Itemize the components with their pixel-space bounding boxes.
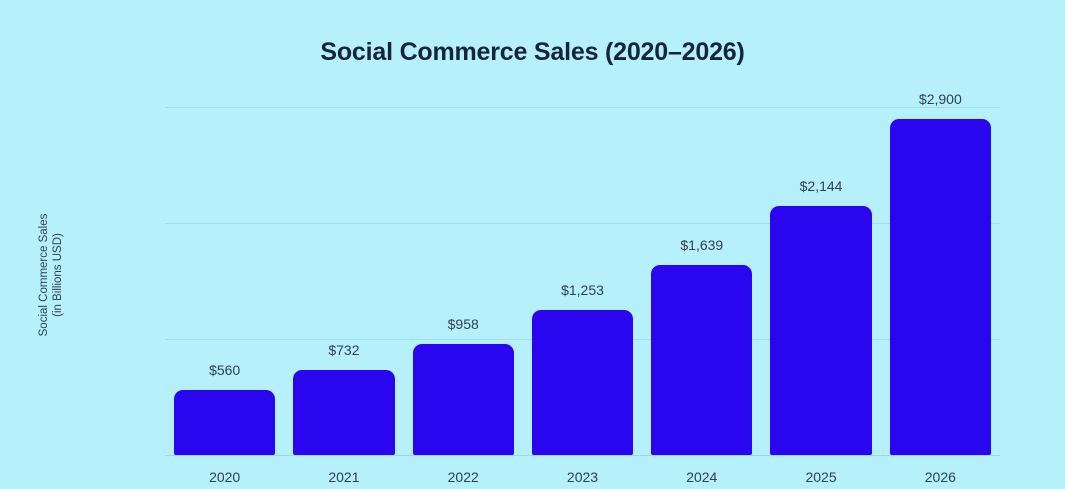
x-axis-tick-label: 2024	[686, 469, 717, 485]
x-axis-tick-label: 2026	[925, 469, 956, 485]
x-axis-tick-label: 2022	[448, 469, 479, 485]
gridline	[165, 455, 1000, 456]
y-axis-title-line-2: (in Billions USD)	[52, 165, 66, 385]
bar-value-label: $732	[328, 342, 359, 358]
bar-value-label: $560	[209, 362, 240, 378]
x-axis-tick-label: 2020	[209, 469, 240, 485]
chart-title: Social Commerce Sales (2020–2026)	[0, 38, 1065, 67]
bar-value-label: $2,144	[800, 178, 843, 194]
x-axis-tick-label: 2025	[805, 469, 836, 485]
bar[interactable]	[651, 265, 752, 455]
bar-group[interactable]: $2,9002026	[890, 107, 991, 455]
bar[interactable]	[770, 206, 871, 455]
bar-value-label: $2,900	[919, 91, 962, 107]
bar-group[interactable]: $9582022	[413, 107, 514, 455]
bar[interactable]	[293, 370, 394, 455]
bar-group[interactable]: $1,6392024	[651, 107, 752, 455]
bar[interactable]	[532, 310, 633, 455]
x-axis-tick-label: 2023	[567, 469, 598, 485]
bar-value-label: $1,253	[561, 282, 604, 298]
y-axis-title-line-1: Social Commerce Sales	[38, 214, 50, 337]
bar[interactable]	[890, 119, 991, 455]
bar-value-label: $1,639	[680, 237, 723, 253]
bar-group[interactable]: $5602020	[174, 107, 275, 455]
bar-series: $5602020$7322021$9582022$1,2532023$1,639…	[165, 107, 1000, 455]
bar-group[interactable]: $1,2532023	[532, 107, 633, 455]
bar-group[interactable]: $2,1442025	[770, 107, 871, 455]
bar-chart: Social Commerce Sales (2020–2026) Social…	[0, 0, 1065, 489]
bar-value-label: $958	[448, 316, 479, 332]
y-axis-title: Social Commerce Sales (in Billions USD)	[38, 165, 65, 385]
bar[interactable]	[174, 390, 275, 455]
bar-group[interactable]: $7322021	[293, 107, 394, 455]
bar[interactable]	[413, 344, 514, 455]
plot-area: $0$1,000$2,000$3,000 $5602020$7322021$95…	[165, 107, 1000, 455]
x-axis-tick-label: 2021	[328, 469, 359, 485]
